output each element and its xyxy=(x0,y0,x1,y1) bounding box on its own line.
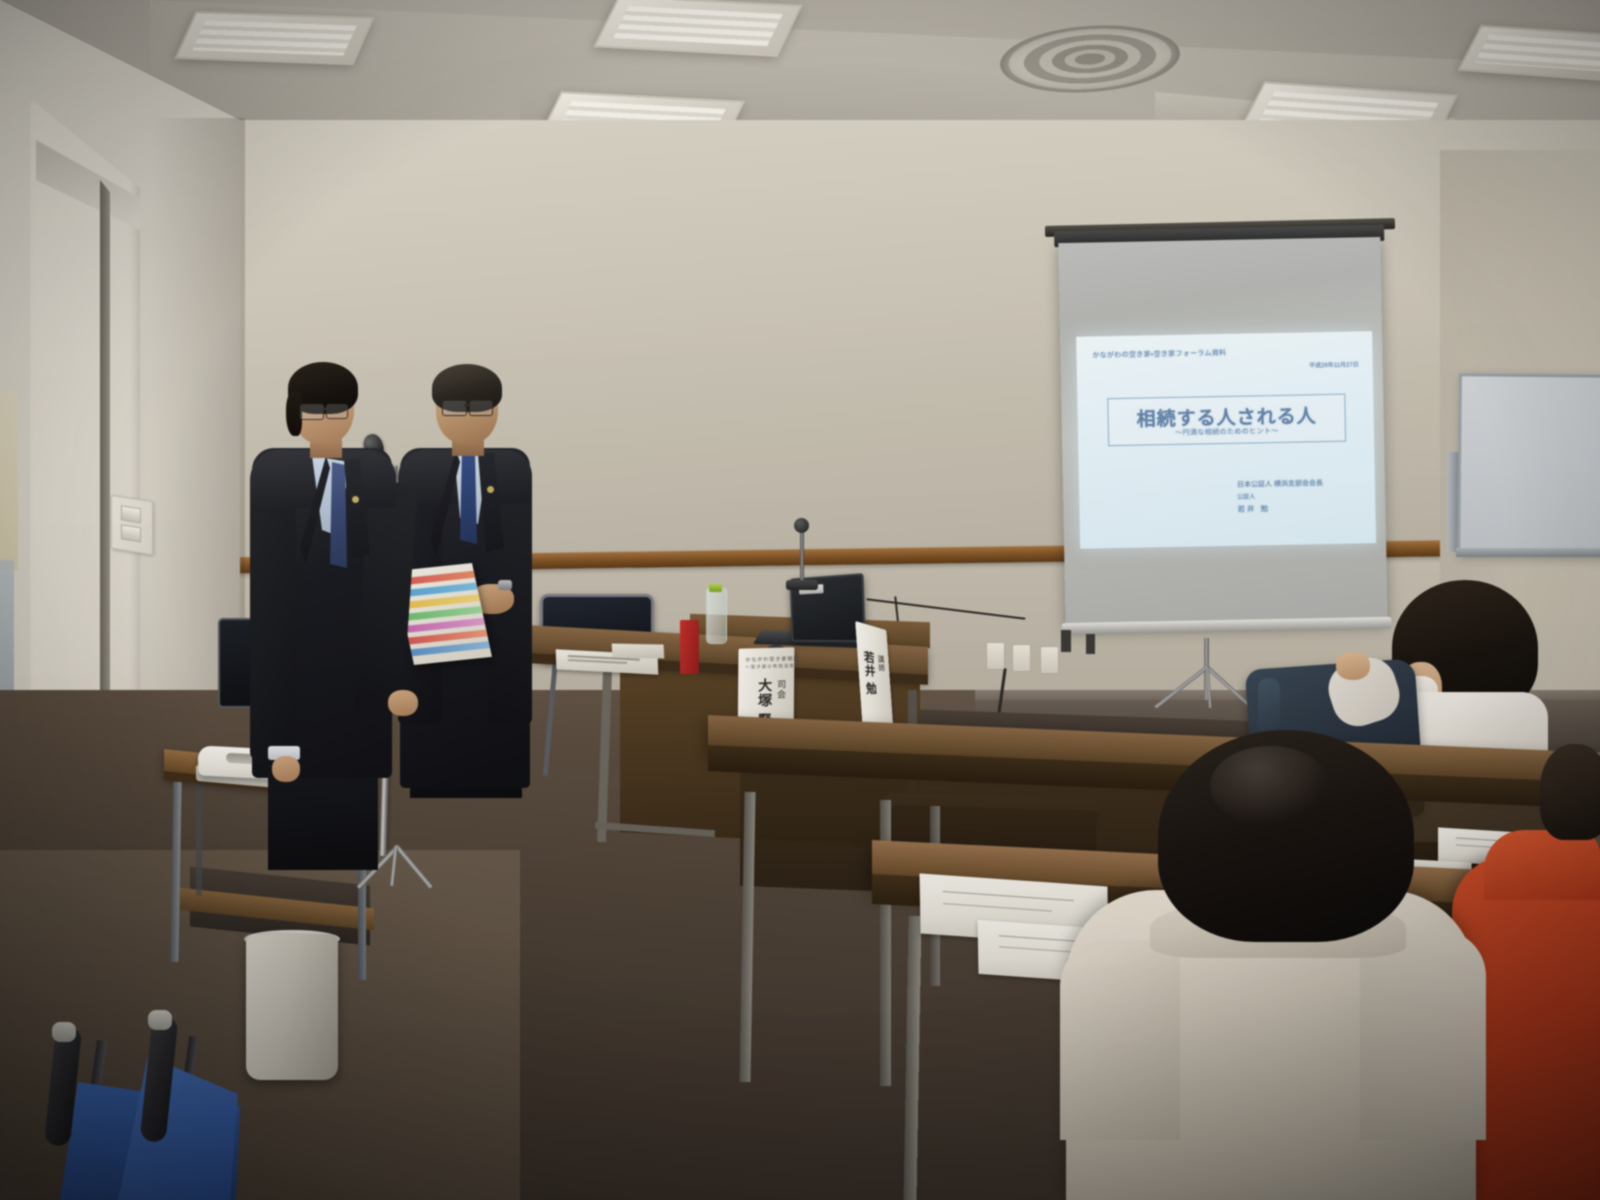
seminar-room-photograph: かながわの空き家・空き家フォーラム資料 平成26年11月27日 相続する人される… xyxy=(0,0,1600,1200)
papers-on-presenter-table[interactable] xyxy=(612,644,665,659)
slide-organization-text: 日本公証人 横浜支部会会長 xyxy=(1237,478,1323,490)
speaker-right-lapel-pin xyxy=(487,486,494,493)
speaker-left-necktie xyxy=(330,462,347,568)
ceiling-light-panel xyxy=(174,11,374,65)
slide-date-text: 平成26年11月27日 xyxy=(1309,359,1359,369)
attendee-far-right-hair xyxy=(1540,744,1600,840)
placard-subcaption: ～空き家の有効活用～ xyxy=(745,663,800,670)
slide-role-text: 公証人 xyxy=(1237,491,1255,500)
light-diffuser-louver xyxy=(613,6,784,47)
water-bottle-cap xyxy=(709,584,722,592)
light-diffuser-louver xyxy=(193,20,357,55)
speaker-right-wristwatch xyxy=(498,580,512,590)
speaker-left-lapel-pin xyxy=(352,496,359,503)
pamphlet-color-band xyxy=(411,641,490,656)
projected-slide: かながわの空き家・空き家フォーラム資料 平成26年11月27日 相続する人される… xyxy=(1076,331,1376,549)
ceiling-light-panel xyxy=(593,0,802,57)
whiteboard-marker-tray xyxy=(1456,548,1600,557)
slide-title-box: 相続する人される人 ～円満な相続のためのヒント～ xyxy=(1107,394,1346,447)
wall-notice xyxy=(0,560,14,690)
light-switch-rocker[interactable] xyxy=(121,505,141,523)
attendee-front-shoulder xyxy=(1360,930,1486,1140)
side-table-leg xyxy=(196,776,202,896)
light-diffuser-louver xyxy=(1474,34,1600,72)
wall-poster xyxy=(0,390,18,570)
placard-caption: かながわ空き家相談 xyxy=(745,655,799,663)
speaker-right-eyeglass-bridge xyxy=(464,404,470,406)
coat-fold xyxy=(1258,678,1280,738)
wheelchair-handle-grip[interactable] xyxy=(52,1022,76,1042)
speaker-left-hand xyxy=(272,756,300,782)
slide-header-text: かながわの空き家・空き家フォーラム資料 xyxy=(1092,348,1226,361)
speaker-left-arm xyxy=(250,470,296,760)
desk-microphone-stem xyxy=(800,524,804,584)
wall-outlet[interactable] xyxy=(1040,646,1059,674)
speaker-right-necktie xyxy=(460,448,477,544)
attendee-front-hair-highlight xyxy=(1210,746,1330,826)
desk-microphone-head[interactable] xyxy=(794,518,809,533)
whiteboard[interactable] xyxy=(1457,373,1600,557)
speaker-right-eyeglass-lens xyxy=(469,400,493,416)
placard-role-label: 司会 xyxy=(775,679,788,699)
speaker-right-eyeglass-lens xyxy=(442,400,467,416)
screen-wall-bracket xyxy=(1061,630,1071,652)
placard-name-label: 若井 勉 xyxy=(861,650,879,696)
trash-can[interactable] xyxy=(246,934,338,1080)
projection-screen-surface: かながわの空き家・空き家フォーラム資料 平成26年11月27日 相続する人される… xyxy=(1058,237,1387,629)
desk-microphone-base xyxy=(786,580,818,590)
speaker-left-hand xyxy=(388,690,418,716)
placard-role-label: 講師 xyxy=(876,654,886,673)
attendee-front-shoulder xyxy=(1060,940,1180,1140)
speaker-left-eyeglass-bridge xyxy=(321,408,327,410)
wall-outlet[interactable] xyxy=(986,642,1005,670)
wall-outlet[interactable] xyxy=(1012,644,1031,672)
screen-wall-bracket xyxy=(1086,634,1095,654)
light-switch-plate[interactable] xyxy=(111,495,153,556)
speaker-left-eyeglass-lens xyxy=(300,404,324,420)
slide-presenter-name-text: 若井 勉 xyxy=(1237,503,1270,515)
water-bottle[interactable] xyxy=(706,588,727,644)
red-thermos[interactable] xyxy=(680,620,699,674)
attendee-far-right-shoulder xyxy=(1484,830,1600,900)
wheelchair-handle-grip[interactable] xyxy=(148,1010,172,1030)
light-switch-rocker[interactable] xyxy=(121,524,141,542)
attendee-back-right-hand xyxy=(1336,652,1370,680)
speaker-left-eyeglass-lens xyxy=(326,404,348,419)
projection-screen: かながわの空き家・空き家フォーラム資料 平成26年11月27日 相続する人される… xyxy=(1054,225,1392,643)
